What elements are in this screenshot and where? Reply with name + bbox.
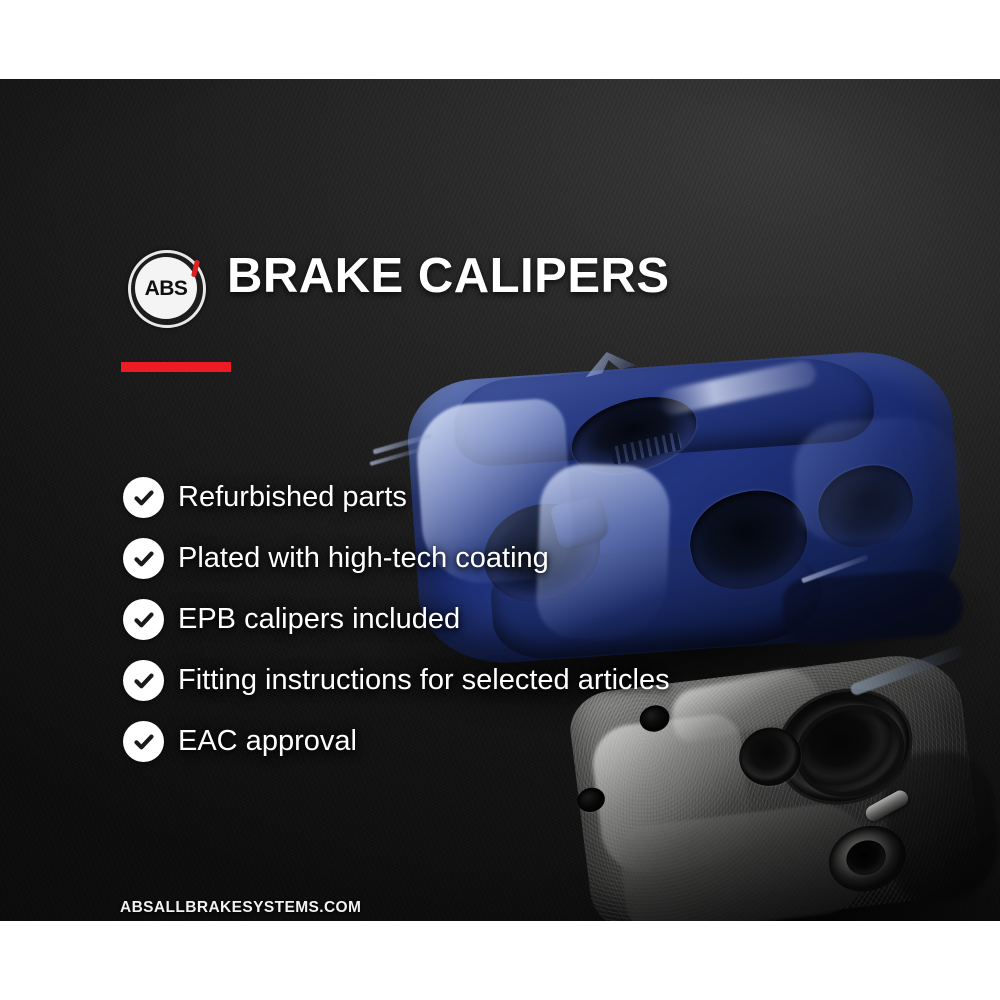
list-item: Refurbished parts — [123, 467, 803, 528]
list-item-label: Plated with high-tech coating — [178, 544, 549, 573]
product-banner: ABS BRAKE CALIPERS Refurbished parts — [0, 79, 1000, 921]
check-circle-icon — [123, 538, 164, 579]
promotional-banner-canvas: ABS BRAKE CALIPERS Refurbished parts — [0, 0, 1000, 1000]
list-item-label: EAC approval — [178, 727, 357, 756]
red-accent-rule — [121, 362, 231, 372]
list-item: Plated with high-tech coating — [123, 528, 803, 589]
abs-logo-core: ABS — [135, 257, 197, 319]
list-item-label: Fitting instructions for selected articl… — [178, 666, 670, 695]
list-item-label: Refurbished parts — [178, 483, 407, 512]
bottom-white-margin — [0, 921, 1000, 1000]
check-circle-icon — [123, 477, 164, 518]
abs-logo[interactable]: ABS — [126, 248, 206, 328]
check-circle-icon — [123, 660, 164, 701]
feature-list: Refurbished parts Plated with high-tech … — [123, 467, 803, 772]
list-item: EAC approval — [123, 711, 803, 772]
list-item-label: EPB calipers included — [178, 605, 460, 634]
page-title: BRAKE CALIPERS — [227, 250, 670, 304]
check-circle-icon — [123, 599, 164, 640]
abs-logo-text: ABS — [145, 278, 188, 299]
website-url[interactable]: ABSALLBRAKESYSTEMS.COM — [120, 899, 361, 917]
top-white-margin — [0, 0, 1000, 79]
list-item: Fitting instructions for selected articl… — [123, 650, 803, 711]
list-item: EPB calipers included — [123, 589, 803, 650]
check-circle-icon — [123, 721, 164, 762]
